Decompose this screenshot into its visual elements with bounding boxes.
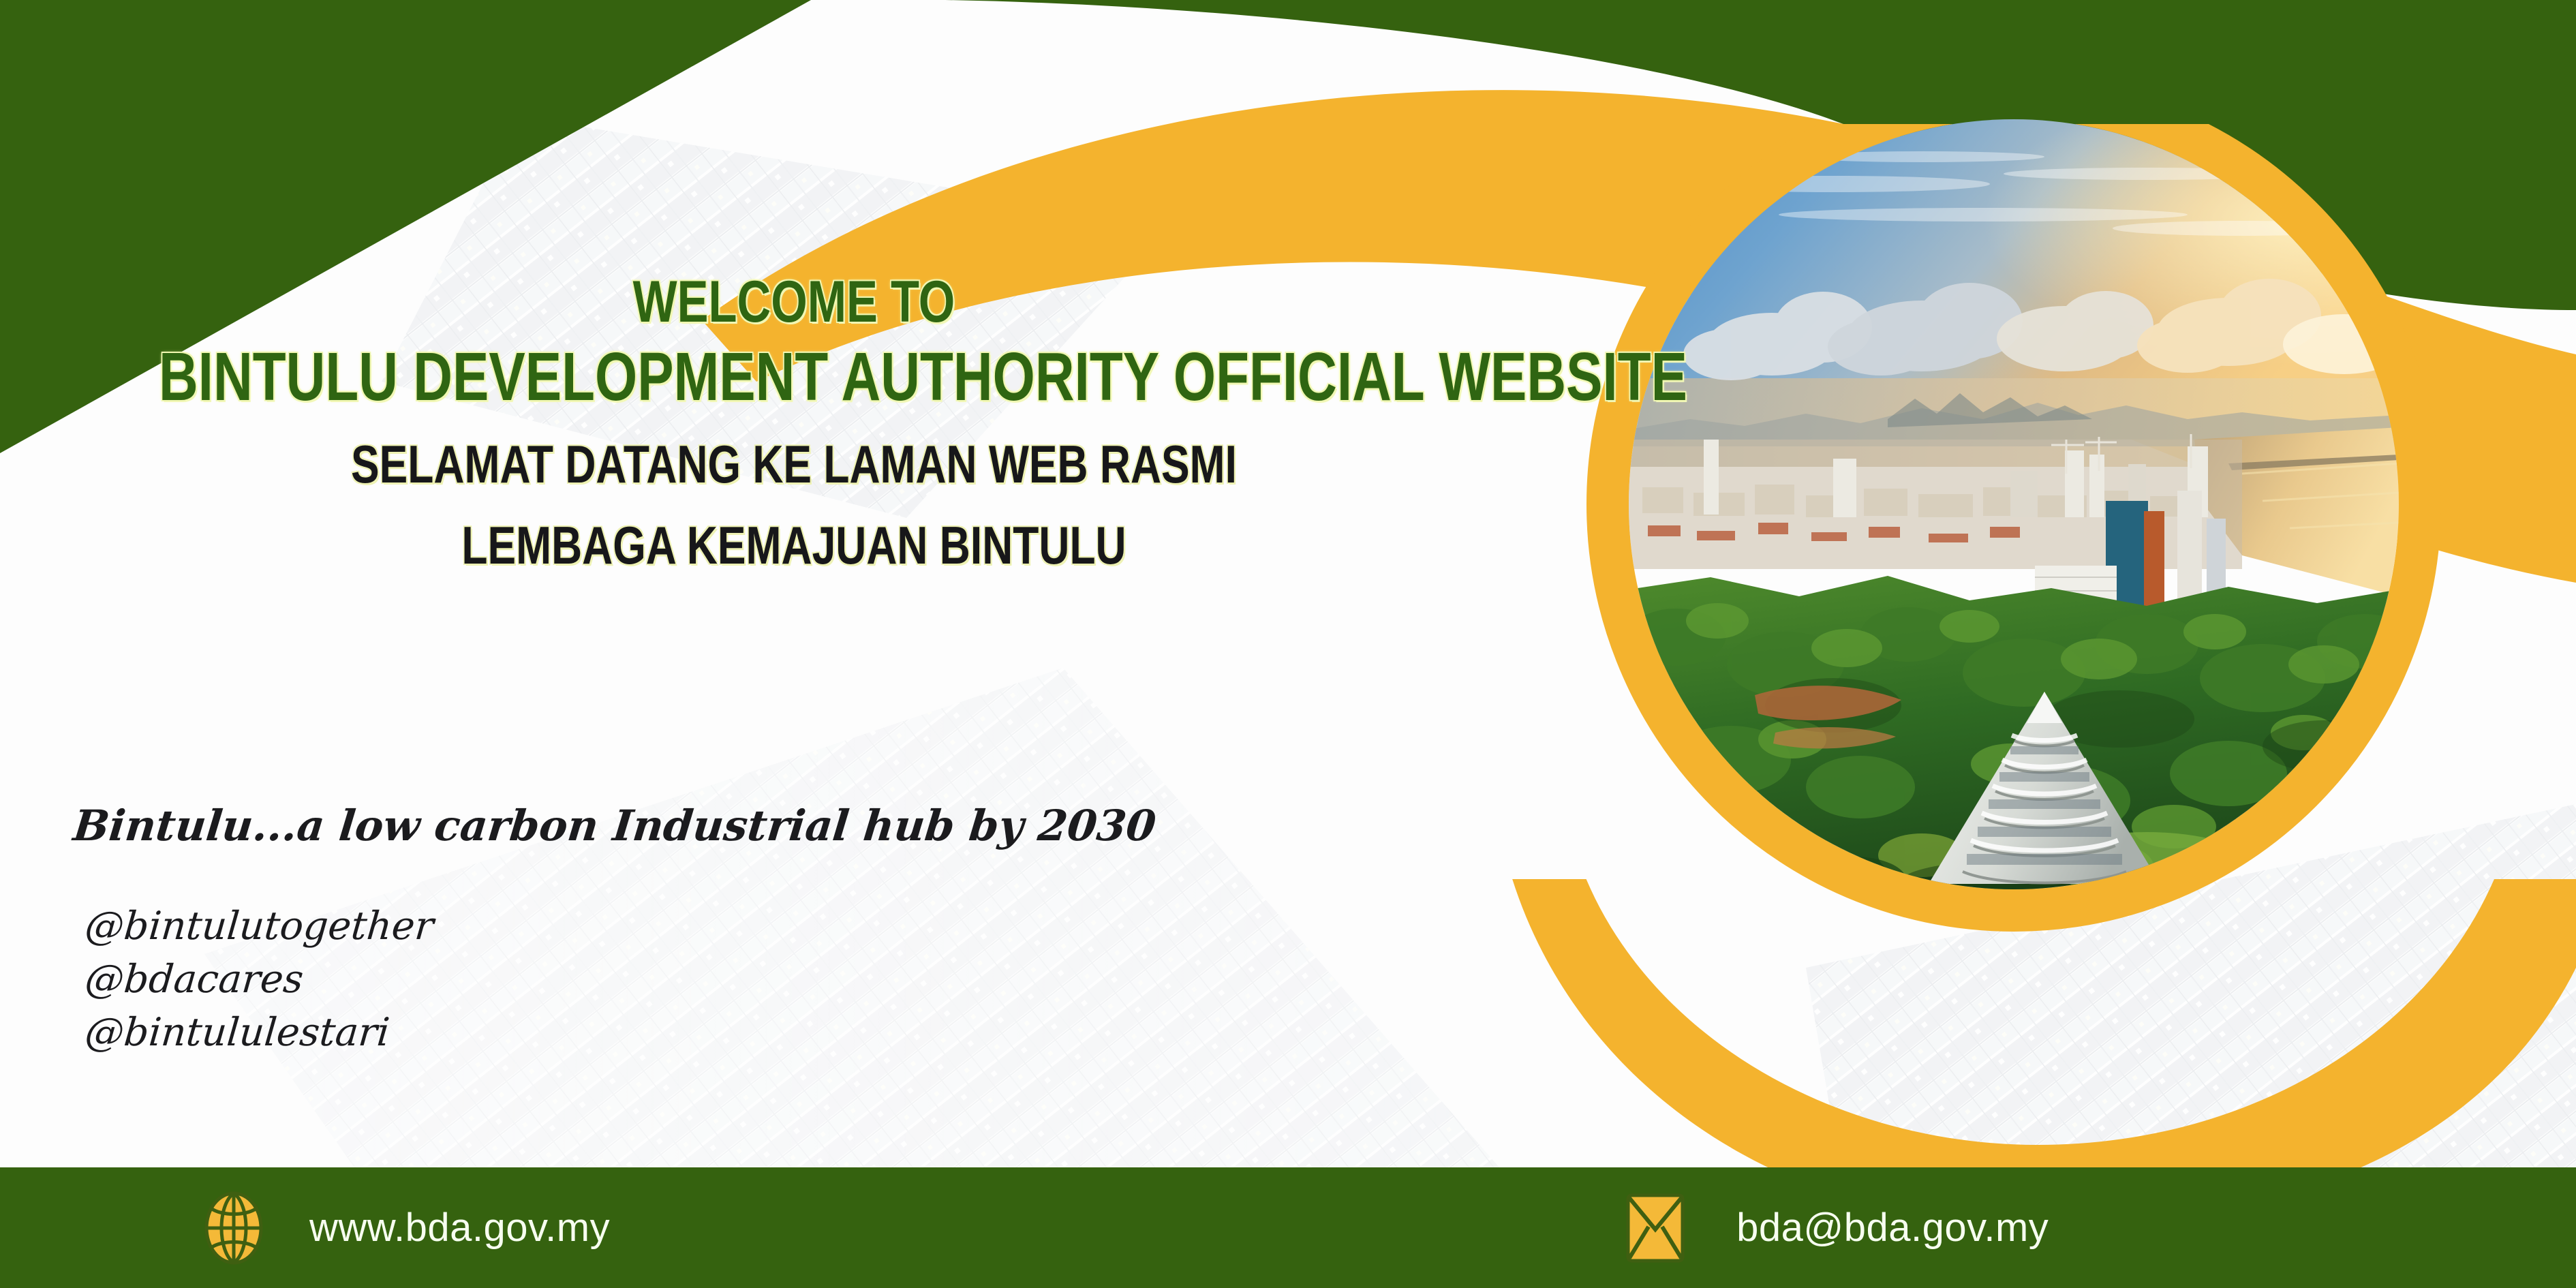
- bintulu-aerial-photo: [1629, 119, 2399, 889]
- email-address[interactable]: bda@bda.gov.my: [1736, 1205, 2049, 1251]
- heading-block: WELCOME TO BINTULU DEVELOPMENT AUTHORITY…: [0, 273, 1588, 573]
- malay-subtitle-line-2: LEMBAGA KEMAJUAN BINTULU: [159, 519, 1429, 573]
- contact-footer-bar: www.bda.gov.my bda@bda.gov.my: [0, 1167, 2576, 1288]
- social-handle[interactable]: @bdacares: [83, 953, 436, 1006]
- social-handle[interactable]: @bintulutogether: [83, 900, 436, 953]
- vision-tagline: Bintulu...a low carbon Industrial hub by…: [71, 801, 1159, 850]
- malay-subtitle-line-1: SELAMAT DATANG KE LAMAN WEB RASMI: [159, 438, 1429, 492]
- website-url[interactable]: www.bda.gov.my: [309, 1205, 610, 1251]
- welcome-heading: WELCOME TO: [159, 273, 1429, 333]
- email-contact[interactable]: bda@bda.gov.my: [1625, 1191, 2049, 1265]
- website-contact[interactable]: www.bda.gov.my: [204, 1191, 610, 1265]
- globe-icon: [204, 1191, 263, 1265]
- social-handles-list: @bintulutogether @bdacares @bintululesta…: [85, 900, 433, 1059]
- bda-welcome-banner: WELCOME TO BINTULU DEVELOPMENT AUTHORITY…: [0, 0, 2576, 1288]
- main-title-heading: BINTULU DEVELOPMENT AUTHORITY OFFICIAL W…: [159, 342, 1429, 412]
- envelope-icon: [1625, 1191, 1685, 1265]
- social-handle[interactable]: @bintululestari: [83, 1006, 436, 1059]
